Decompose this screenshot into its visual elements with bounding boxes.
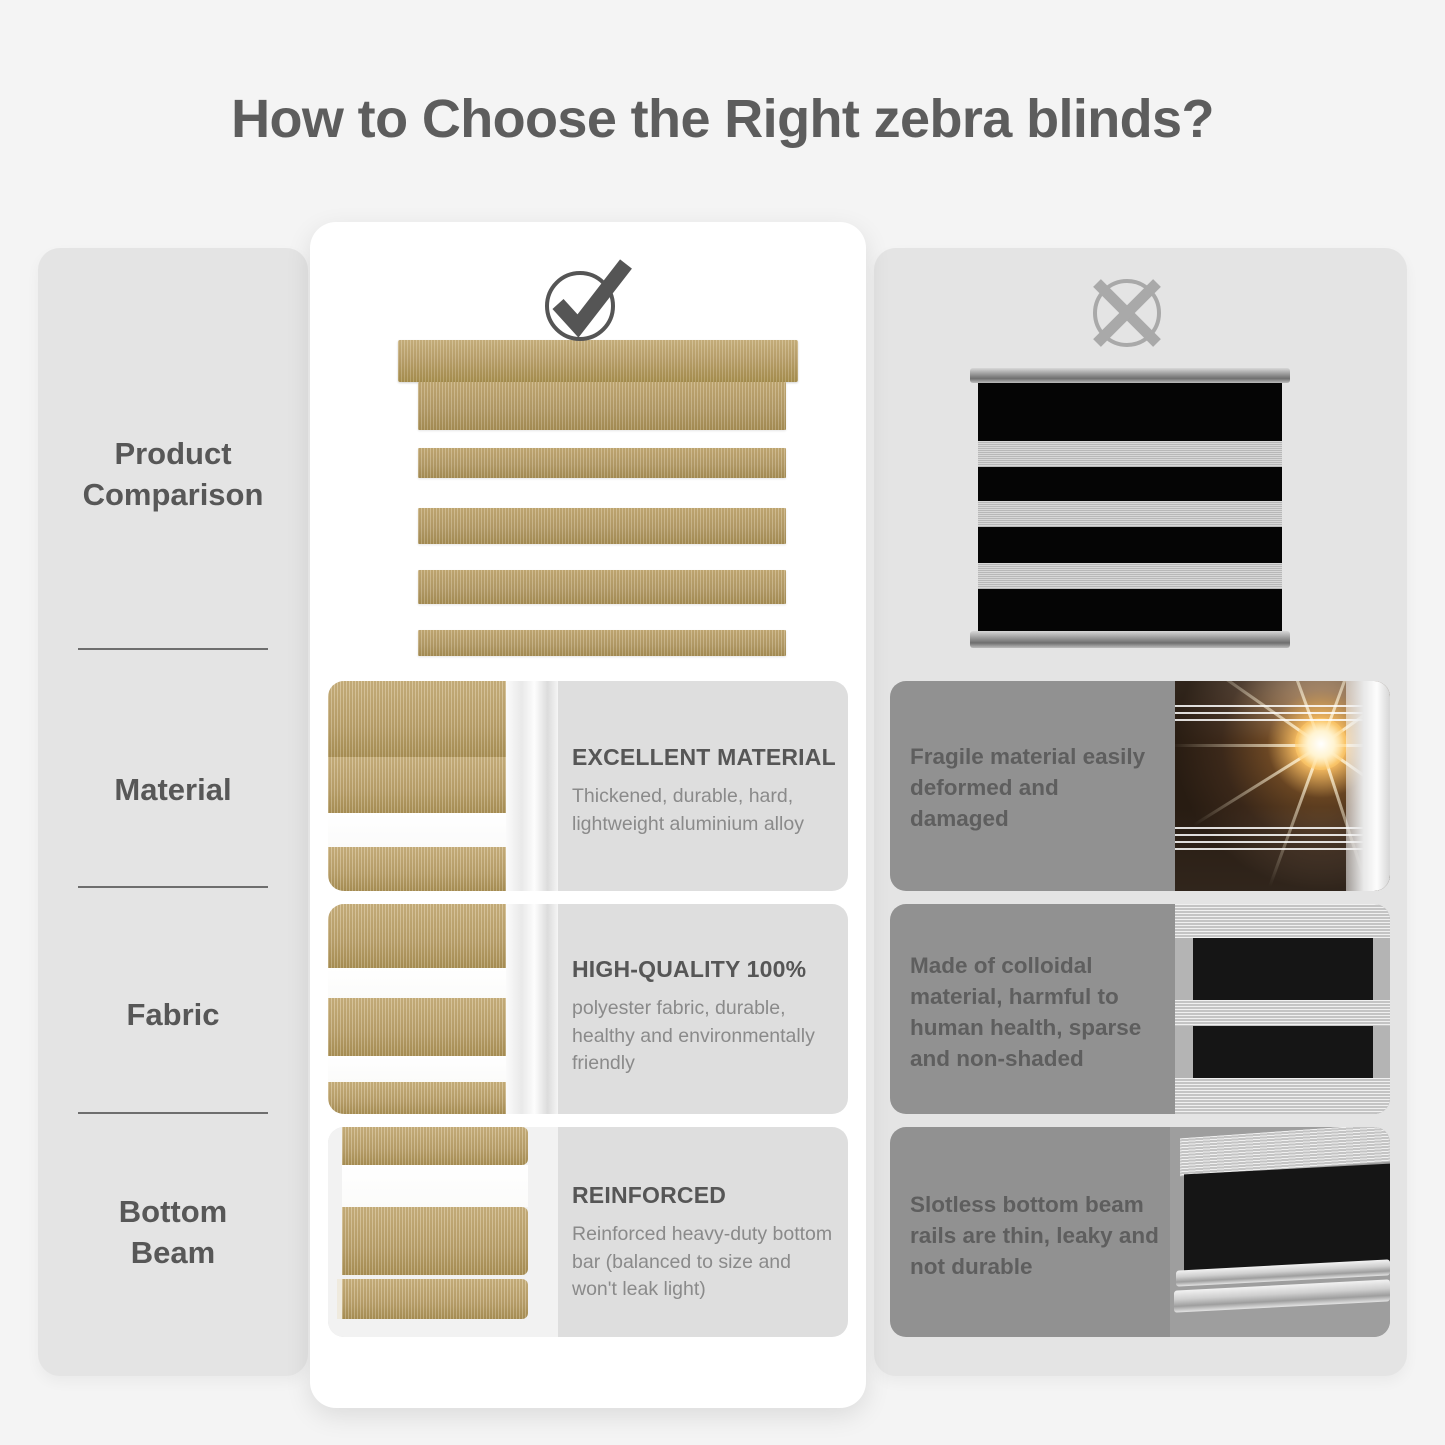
blind-slat xyxy=(342,1207,528,1275)
blind-slat xyxy=(328,847,514,891)
bad-hero-blind-image xyxy=(970,368,1290,648)
sidebar-label-line: Beam xyxy=(131,1235,215,1270)
bad-material-text: Fragile material easily deformed and dam… xyxy=(910,741,1160,834)
feature-body: Thickened, durable, hard, lightweight al… xyxy=(572,783,834,838)
bad-card-fabric: Made of colloidal material, harmful to h… xyxy=(890,904,1390,1114)
feature-text: Made of colloidal material, harmful to h… xyxy=(910,950,1160,1074)
sidebar-item-material: Material xyxy=(38,770,308,811)
sidebar-label-line: Product xyxy=(114,436,231,471)
feature-title: HIGH-QUALITY 100% xyxy=(572,956,834,983)
page-title: How to Choose the Right zebra blinds? xyxy=(0,88,1445,150)
blind-slat xyxy=(328,757,514,813)
sidebar-item-bottom-beam: Bottom Beam xyxy=(38,1192,308,1274)
window-frame xyxy=(506,904,558,1114)
bad-card-material: Fragile material easily deformed and dam… xyxy=(890,681,1390,891)
blind-band xyxy=(418,382,786,430)
blind-dark-band xyxy=(1193,938,1373,1000)
blind-gap xyxy=(328,813,514,847)
blind-mesh-stripe xyxy=(978,501,1282,527)
feature-title: REINFORCED xyxy=(572,1182,834,1209)
good-card-material: EXCELLENT MATERIAL Thickened, durable, h… xyxy=(328,681,848,891)
sidebar-label-line: Bottom xyxy=(119,1194,227,1229)
blind-dark-band xyxy=(1184,1164,1390,1273)
blind-body xyxy=(978,383,1282,631)
good-material-text: EXCELLENT MATERIAL Thickened, durable, h… xyxy=(572,744,836,838)
blind-mesh xyxy=(1175,1000,1390,1026)
thin-rail-scene xyxy=(1170,1127,1390,1337)
sun-core xyxy=(1295,718,1347,770)
blind-mesh-stripe xyxy=(978,441,1282,467)
blind-slat xyxy=(328,681,514,757)
good-bottom-beam-image xyxy=(328,1127,558,1337)
bad-material-image xyxy=(1175,681,1390,891)
blind-gap xyxy=(328,1056,514,1082)
sparse-blind-scene xyxy=(1175,904,1390,1114)
blind-band xyxy=(418,448,786,478)
feature-text: Slotless bottom beam rails are thin, lea… xyxy=(910,1189,1160,1282)
good-material-image xyxy=(328,681,558,891)
blind-slat xyxy=(328,998,514,1056)
cross-circle-icon xyxy=(1086,272,1168,359)
sidebar-divider xyxy=(78,886,268,888)
blind-bottom-rail xyxy=(970,631,1290,648)
blind-gap xyxy=(342,1165,528,1207)
blind-mesh xyxy=(1175,904,1390,938)
feature-text: Fragile material easily deformed and dam… xyxy=(910,741,1160,834)
blind-slat xyxy=(328,1082,514,1114)
good-fabric-image xyxy=(328,904,558,1114)
blind-mesh-stripe xyxy=(978,563,1282,589)
blind-mesh xyxy=(1175,1078,1390,1114)
blind-dark-band xyxy=(1193,1026,1373,1078)
sidebar-item-fabric: Fabric xyxy=(38,995,308,1036)
blind-bottom-bar xyxy=(342,1279,528,1319)
sun-glare-scene xyxy=(1175,681,1390,891)
feature-body: polyester fabric, durable, healthy and e… xyxy=(572,995,834,1078)
bad-fabric-text: Made of colloidal material, harmful to h… xyxy=(910,950,1160,1074)
blind-headrail xyxy=(970,368,1290,383)
good-card-bottom-beam: REINFORCED Reinforced heavy-duty bottom … xyxy=(328,1127,848,1337)
sidebar-label-line: Comparison xyxy=(83,477,264,512)
sidebar-divider xyxy=(78,648,268,650)
feature-body: Reinforced heavy-duty bottom bar (balanc… xyxy=(572,1221,834,1304)
good-fabric-text: HIGH-QUALITY 100% polyester fabric, dura… xyxy=(572,956,834,1078)
blind-slat xyxy=(342,1127,528,1165)
window-frame xyxy=(506,681,558,891)
blind-band xyxy=(418,570,786,604)
feature-title: EXCELLENT MATERIAL xyxy=(572,744,836,771)
good-bottom-beam-text: REINFORCED Reinforced heavy-duty bottom … xyxy=(572,1182,834,1304)
blind-slat xyxy=(328,904,514,968)
bad-bottom-beam-text: Slotless bottom beam rails are thin, lea… xyxy=(910,1189,1160,1282)
window-frame xyxy=(1346,681,1390,891)
sidebar-divider xyxy=(78,1112,268,1114)
blind-gap xyxy=(328,968,514,998)
check-circle-icon xyxy=(536,256,636,353)
bad-card-bottom-beam: Slotless bottom beam rails are thin, lea… xyxy=(890,1127,1390,1337)
good-hero-blind-image xyxy=(398,340,798,660)
blind-bottom-bar xyxy=(418,630,786,656)
bad-fabric-image xyxy=(1175,904,1390,1114)
bad-bottom-beam-image xyxy=(1170,1127,1390,1337)
blind-band xyxy=(418,508,786,544)
sidebar-item-product-comparison: Product Comparison xyxy=(38,434,308,516)
good-card-fabric: HIGH-QUALITY 100% polyester fabric, dura… xyxy=(328,904,848,1114)
